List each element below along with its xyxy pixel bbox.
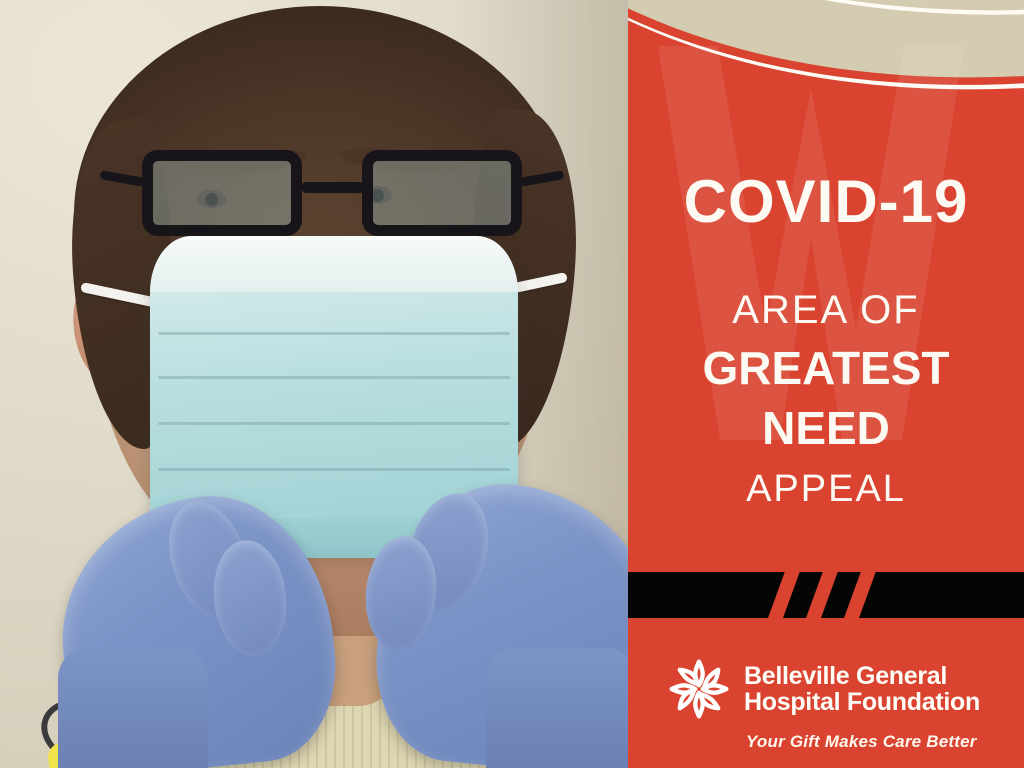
subline-area-of: AREA OF xyxy=(628,290,1024,330)
mask-pleat xyxy=(158,376,510,379)
bar-slash-icon xyxy=(840,572,878,618)
logo-name-line-1: Belleville General xyxy=(744,663,980,689)
logo-name-block: Belleville General Hospital Foundation xyxy=(744,663,980,716)
bar-slash-icon xyxy=(802,572,840,618)
eyeglass-bridge xyxy=(302,182,364,193)
eyeglass-lens-left xyxy=(142,150,302,236)
subline-need: NEED xyxy=(628,405,1024,451)
logo-lockup: Belleville General Hospital Foundation xyxy=(668,658,980,720)
glove-cuff-right xyxy=(486,648,628,768)
headline-covid19: COVID-19 xyxy=(628,172,1024,232)
subline-greatest: GREATEST xyxy=(628,345,1024,391)
foundation-logo: Belleville General Hospital Foundation Y… xyxy=(628,648,1024,768)
eyeglass-lens-right xyxy=(362,150,522,236)
mask-pleat xyxy=(158,468,510,471)
logo-tagline: Your Gift Makes Care Better xyxy=(746,732,977,752)
black-divider-bar xyxy=(628,572,1024,618)
logo-name-line-2: Hospital Foundation xyxy=(744,689,980,715)
glove-cuff-left xyxy=(58,648,208,768)
poster-canvas: COVID-19 AREA OF GREATEST NEED APPEAL xyxy=(0,0,1024,768)
photo-region xyxy=(0,0,628,768)
subline-appeal: APPEAL xyxy=(628,470,1024,508)
mask-nose-band xyxy=(150,236,518,292)
mask-pleat xyxy=(158,422,510,425)
bar-slash-icon xyxy=(764,572,802,618)
mask-pleat xyxy=(158,332,510,335)
eight-petal-flower-icon xyxy=(668,658,730,720)
